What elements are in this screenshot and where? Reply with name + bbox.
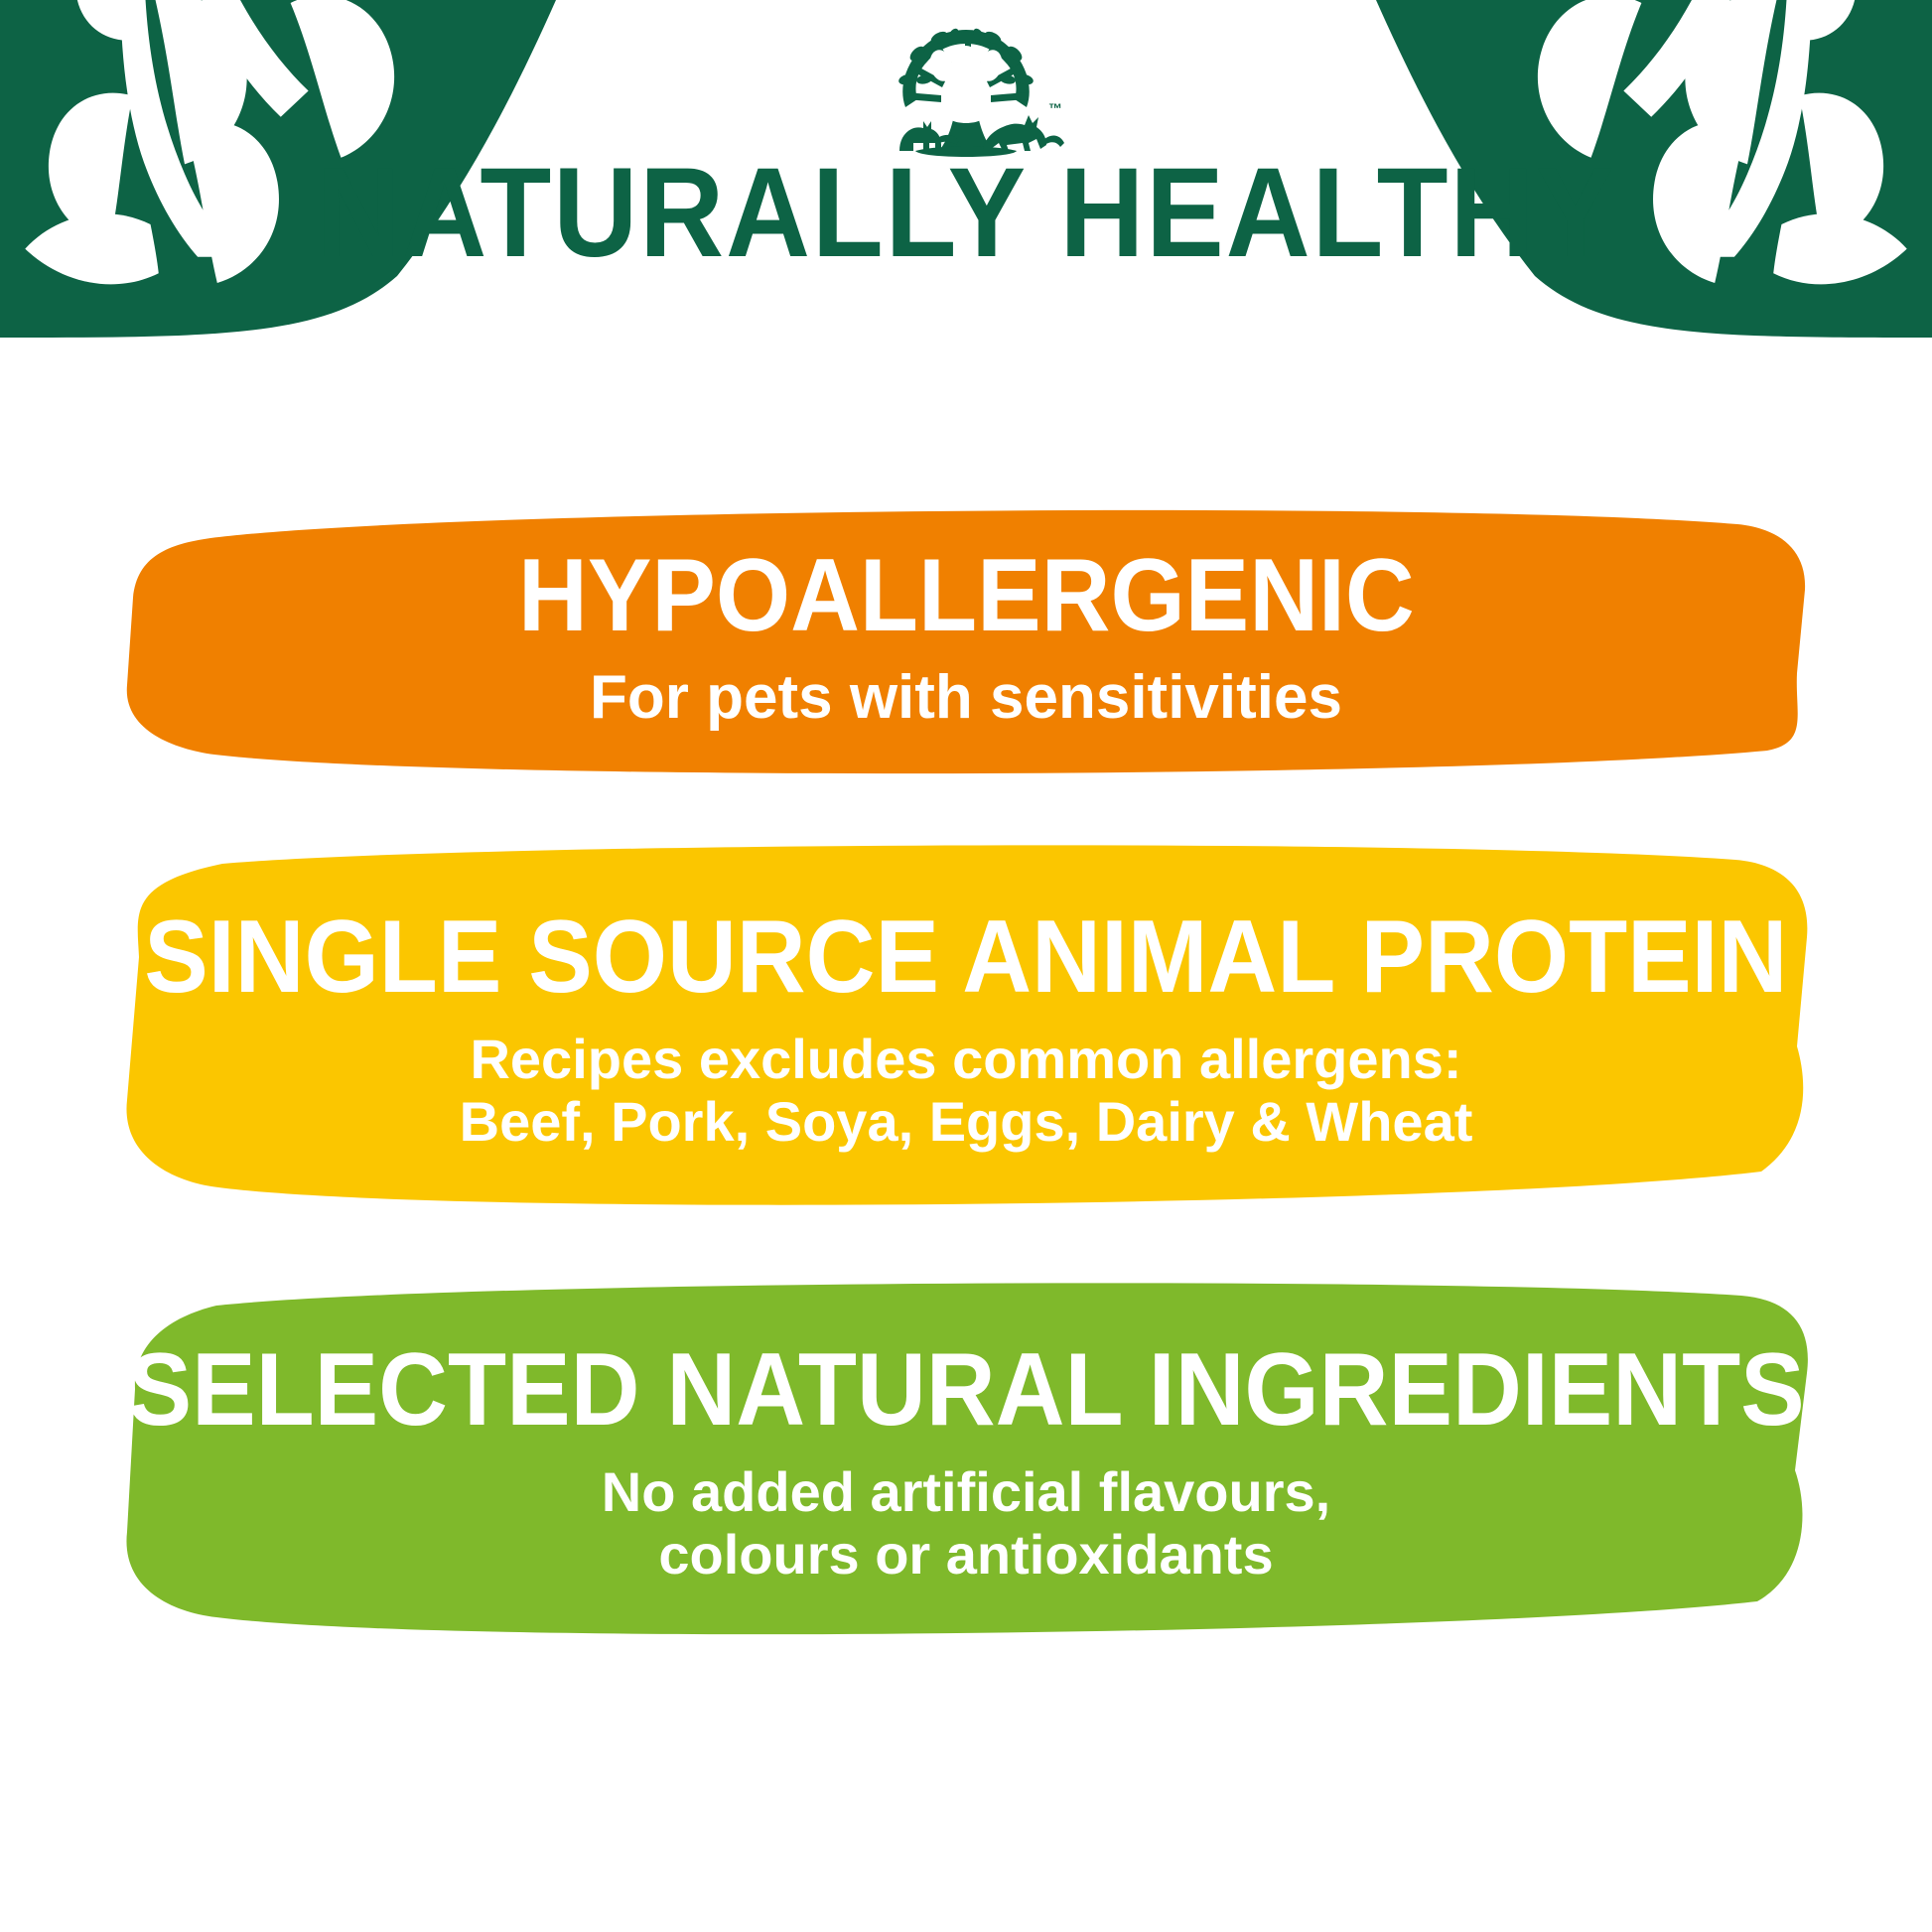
trademark-mark: ™	[1048, 100, 1062, 116]
banner-selected-natural-subtitle: No added artificial flavours, colours or…	[602, 1461, 1330, 1586]
banner-single-source-heading: SINGLE SOURCE ANIMAL PROTEIN	[144, 905, 1787, 1009]
banner-hypoallergenic: HYPOALLERGENIC For pets with sensitiviti…	[119, 494, 1813, 782]
banner-selected-natural-ingredients: SELECTED NATURAL INGREDIENTS No added ar…	[119, 1276, 1813, 1648]
banner-hypoallergenic-heading: HYPOALLERGENIC	[518, 544, 1415, 647]
banner-hypoallergenic-subtitle: For pets with sensitivities	[590, 663, 1342, 732]
page-title: NATURALLY HEALTHY	[77, 149, 1855, 278]
banner-single-source-subtitle: Recipes excludes common allergens: Beef,…	[460, 1029, 1473, 1153]
benefit-banner-stack: HYPOALLERGENIC For pets with sensitiviti…	[0, 494, 1932, 1704]
banner-selected-natural-heading: SELECTED NATURAL INGREDIENTS	[127, 1338, 1804, 1442]
banner-single-source-animal-protein: SINGLE SOURCE ANIMAL PROTEIN Recipes exc…	[119, 838, 1813, 1220]
